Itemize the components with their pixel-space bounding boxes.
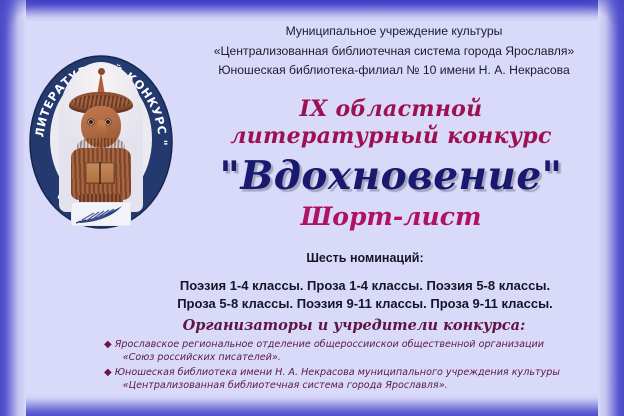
institution-header: Муниципальное учреждение культуры «Центр… — [178, 22, 610, 81]
contest-name-title: "Вдохновение" — [168, 150, 614, 202]
poster-canvas: РЕГИОНАЛЬНЫЙ ЛИТЕРАТУРНЫЙ КОНКУРС "ВДОХН… — [0, 0, 624, 416]
header-line-3: Юношеская библиотека-филиал № 10 имени Н… — [178, 61, 610, 81]
frame-left-edge — [0, 0, 26, 416]
organizers-heading: Организаторы и учредители конкурса: — [104, 316, 604, 335]
organizer-item: ◆ Ярославское региональное отделение общ… — [104, 338, 604, 365]
diamond-bullet-icon: ◆ — [104, 338, 112, 351]
organizer-1-line-2: «Союз российских писателей». — [115, 351, 604, 364]
quill-feather-icon — [71, 202, 131, 226]
organizers-block: Организаторы и учредители конкурса: ◆ Яр… — [104, 316, 604, 394]
frame-bottom-edge — [0, 394, 624, 416]
organizer-item: ◆ Юношеская библиотека имени Н. А. Некра… — [104, 366, 604, 393]
organizer-2-line-2: «Централизованная библиотечная система г… — [115, 379, 604, 392]
diamond-bullet-icon: ◆ — [104, 366, 112, 379]
header-line-2: «Централизованная библиотечная система г… — [178, 42, 610, 62]
organizer-1-line-1: Ярославское региональное отделение общер… — [115, 339, 544, 350]
contest-type-line: литературный конкурс — [168, 123, 614, 150]
nominations-line-2: Проза 5-8 классы. Поэзия 9-11 классы. Пр… — [120, 295, 610, 313]
contest-edition-line: IX областной — [168, 96, 614, 123]
header-line-1: Муниципальное учреждение культуры — [178, 22, 610, 42]
frame-top-edge — [0, 0, 624, 22]
organizer-2-line-1: Юношеская библиотека имени Н. А. Некрасо… — [115, 367, 560, 378]
contest-emblem: РЕГИОНАЛЬНЫЙ ЛИТЕРАТУРНЫЙ КОНКУРС "ВДОХН… — [27, 42, 175, 230]
clay-figurine-photo — [59, 62, 143, 212]
nominations-line-1: Поэзия 1-4 классы. Проза 1-4 классы. Поэ… — [120, 277, 610, 295]
nominations-block: Шесть номинаций: Поэзия 1-4 классы. Проз… — [120, 250, 610, 312]
title-block: IX областной литературный конкурс "Вдохн… — [168, 96, 614, 232]
nominations-heading: Шесть номинаций: — [120, 250, 610, 266]
frame-corner-top-left — [0, 0, 40, 40]
shortlist-subtitle: Шорт-лист — [168, 202, 614, 232]
